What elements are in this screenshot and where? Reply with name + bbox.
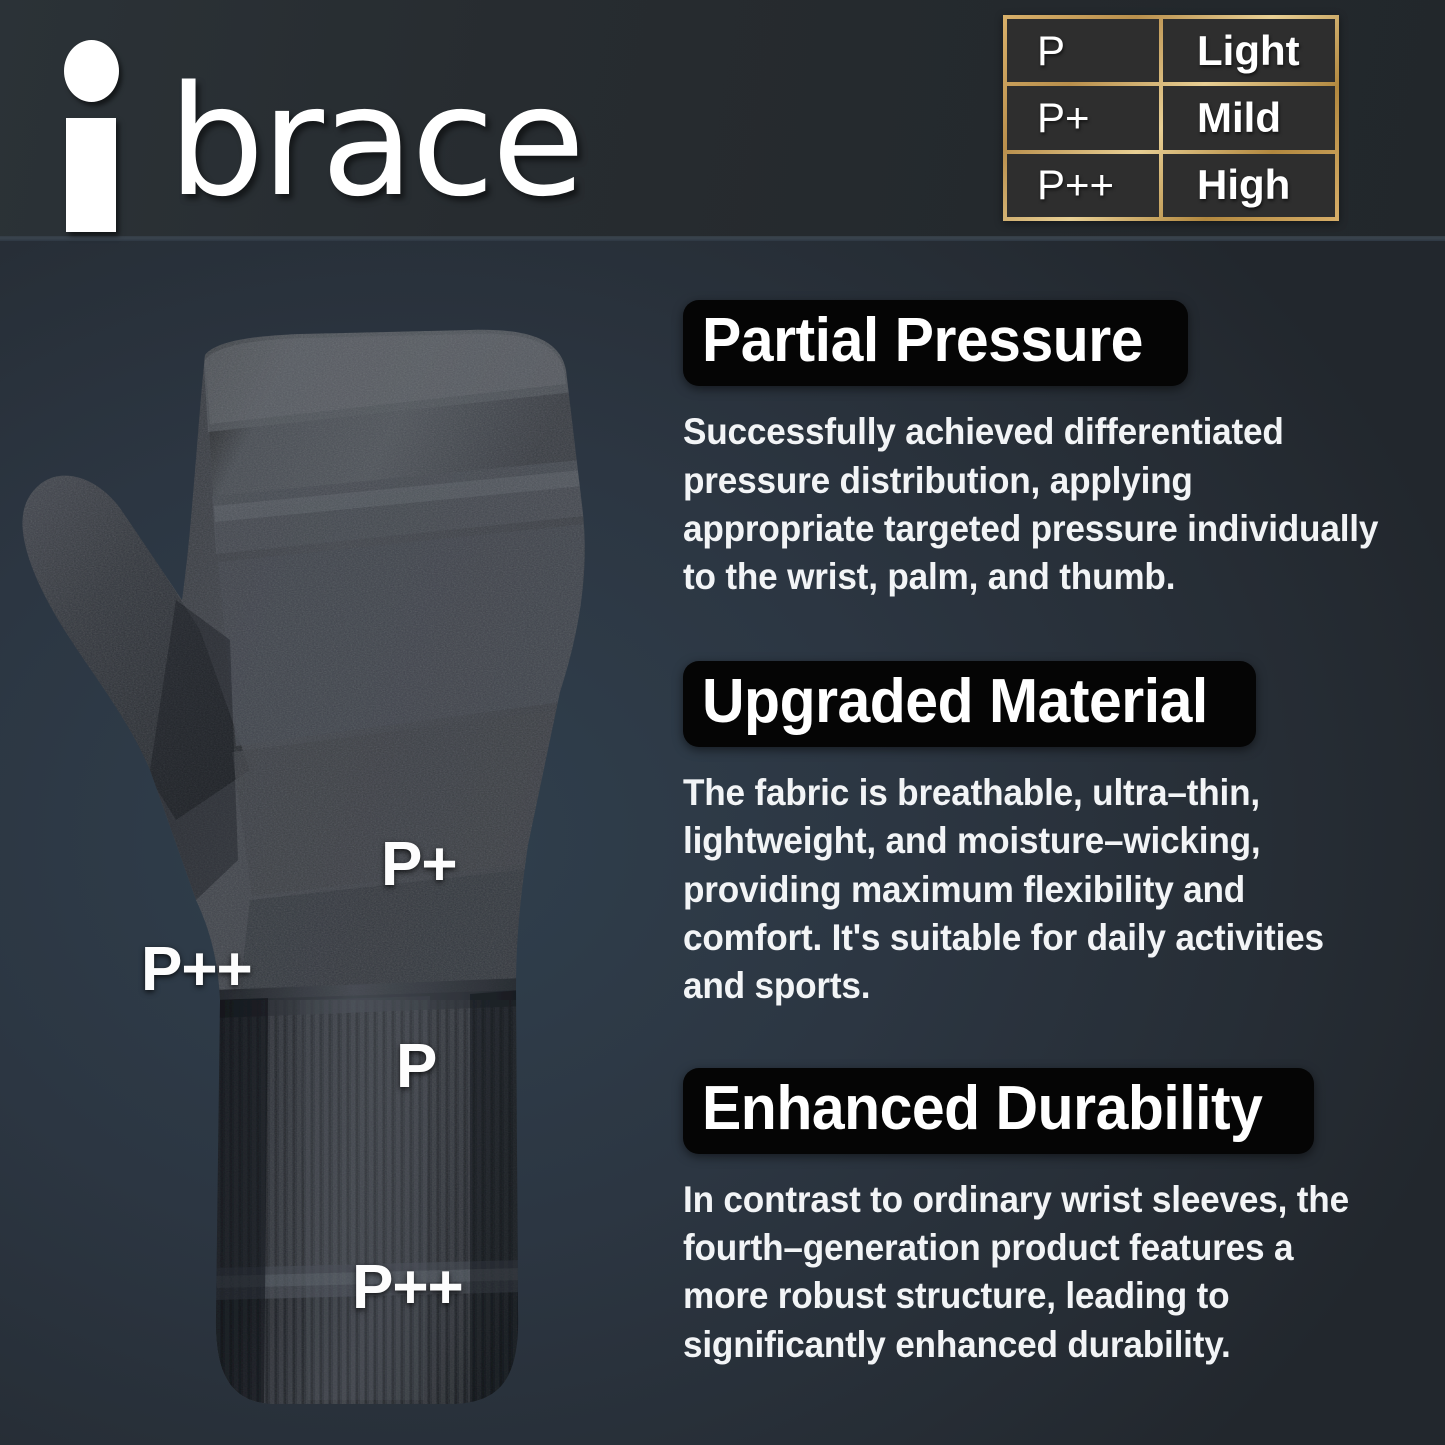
feature-title: Partial Pressure bbox=[702, 309, 1143, 373]
pressure-legend-table: P Light P+ Mild P++ High bbox=[1003, 15, 1339, 221]
feature-body: In contrast to ordinary wrist sleeves, t… bbox=[683, 1176, 1386, 1368]
logo-i-stem-icon bbox=[66, 118, 116, 232]
legend-level-cell: Light bbox=[1163, 19, 1335, 82]
legend-code-label: P bbox=[1037, 27, 1065, 75]
legend-level-cell: High bbox=[1163, 154, 1335, 217]
table-row: P Light bbox=[1007, 19, 1335, 82]
pressure-label-hand: P+ bbox=[381, 834, 457, 896]
feature-title-pill: Enhanced Durability bbox=[683, 1068, 1314, 1154]
legend-code-cell: P+ bbox=[1007, 86, 1159, 149]
legend-level-label: Light bbox=[1197, 27, 1300, 75]
feature-upgraded-material: Upgraded Material The fabric is breathab… bbox=[683, 661, 1383, 1010]
feature-partial-pressure: Partial Pressure Successfully achieved d… bbox=[683, 300, 1383, 601]
legend-code-label: P+ bbox=[1037, 94, 1090, 142]
pressure-label-palm: P bbox=[396, 1036, 436, 1098]
legend-level-cell: Mild bbox=[1163, 86, 1335, 149]
header-divider bbox=[0, 236, 1445, 241]
features-list: Partial Pressure Successfully achieved d… bbox=[683, 300, 1383, 1369]
feature-body: The fabric is breathable, ultra–thin, li… bbox=[683, 769, 1386, 1009]
legend-level-label: High bbox=[1197, 161, 1290, 209]
logo-i-dot-icon bbox=[64, 40, 119, 102]
legend-level-label: Mild bbox=[1197, 94, 1281, 142]
feature-title-pill: Partial Pressure bbox=[683, 300, 1188, 386]
feature-body: Successfully achieved differentiated pre… bbox=[683, 408, 1386, 600]
feature-title: Upgraded Material bbox=[702, 670, 1208, 734]
feature-title-pill: Upgraded Material bbox=[683, 661, 1256, 747]
feature-enhanced-durability: Enhanced Durability In contrast to ordin… bbox=[683, 1068, 1383, 1369]
legend-code-cell: P bbox=[1007, 19, 1159, 82]
infographic-canvas: brace P Light P+ Mild P++ High bbox=[0, 0, 1445, 1445]
pressure-label-thumb: P++ bbox=[141, 939, 252, 1001]
table-row: P++ High bbox=[1007, 154, 1335, 217]
feature-title: Enhanced Durability bbox=[702, 1077, 1262, 1141]
legend-code-label: P++ bbox=[1037, 161, 1114, 209]
legend-code-cell: P++ bbox=[1007, 154, 1159, 217]
product-image-wrist-brace: P+ P++ P P++ P+ bbox=[0, 300, 660, 1445]
logo-wordmark: brace bbox=[168, 66, 582, 218]
table-row: P+ Mild bbox=[1007, 86, 1335, 149]
brand-logo: brace bbox=[58, 38, 618, 193]
product-illustration bbox=[0, 300, 660, 1445]
pressure-label-wrist: P++ bbox=[352, 1257, 463, 1319]
